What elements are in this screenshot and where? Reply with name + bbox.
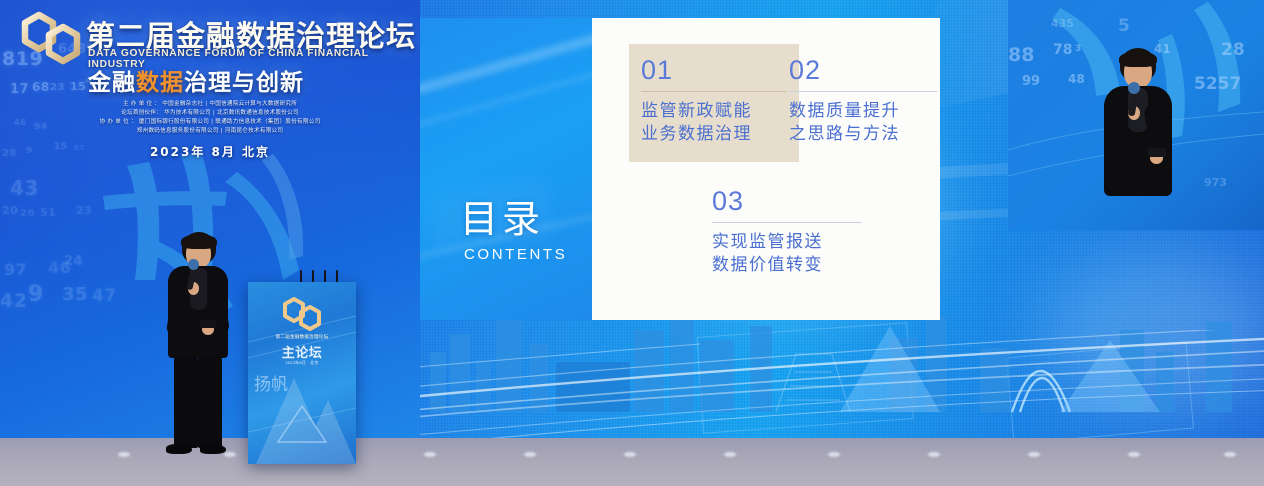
subtitle-part1: 金融 — [88, 70, 136, 96]
toc-line-1: 监管新政赋能 — [641, 100, 787, 123]
toc-item-02[interactable]: 02 数据质量提升 之思路与方法 — [789, 57, 937, 146]
bg-number: 97 — [4, 260, 27, 279]
feed-number: 88 — [1008, 44, 1034, 66]
floor-light — [1128, 452, 1140, 457]
floor-light — [1224, 452, 1236, 457]
floor-light — [928, 452, 940, 457]
toc-line-2: 之思路与方法 — [789, 123, 937, 146]
feed-number: 28 — [1221, 40, 1245, 60]
toc-number: 02 — [789, 57, 937, 84]
bg-number: 43 — [10, 176, 39, 200]
toc-number: 01 — [641, 57, 787, 84]
toc-item-03[interactable]: 03 实现监管报送 数据价值转变 — [712, 188, 862, 277]
feed-number: 5257 — [1194, 74, 1241, 94]
organizer-line: 主 办 单 位 ： 中国金融杂志社 | 中国信通院云计算与大数据研究所 — [0, 99, 420, 107]
toc-item-01[interactable]: 01 监管新政赋能 业务数据治理 — [629, 44, 799, 162]
slide-contents-panel: 目录 CONTENTS — [420, 18, 592, 320]
floor-light — [1028, 452, 1040, 457]
subtitle-highlight: 数据 — [136, 70, 184, 96]
toc-line-2: 业务数据治理 — [641, 123, 787, 146]
banner-subtitle: 金融数据治理与创新 — [88, 63, 304, 97]
podium-title-small: 第二届金融数据治理论坛 — [248, 334, 356, 340]
floor-light — [118, 452, 130, 457]
floor-light — [624, 452, 636, 457]
speaker-in-video-feed — [1092, 48, 1184, 230]
floor-light — [424, 452, 436, 457]
organizer-line: 论坛首创伙伴： 华为技术有限公司 | 北京数讯数通信息技术股份公司 — [0, 108, 420, 116]
toc-number: 03 — [712, 188, 862, 215]
event-banner: 第二届金融数据治理论坛 DATA GOVERNANCE FORUM OF CHI… — [0, 0, 420, 175]
right-led-screen: 88 78 3 435 5 41 28 99 48 5257 973 — [1008, 0, 1264, 230]
bg-number: 42 — [0, 290, 27, 312]
interlocking-hexagon-logo-icon — [20, 10, 82, 66]
slide-white-panel: 01 监管新政赋能 业务数据治理 02 数据质量提升 之思路与方法 03 实现监… — [592, 18, 940, 320]
subtitle-part2: 治理与创新 — [184, 70, 304, 96]
toc-divider — [712, 222, 862, 223]
bg-number: 9 — [28, 282, 44, 307]
event-datetime: 2023年 8月 北京 — [0, 143, 420, 160]
floor-light — [724, 452, 736, 457]
feed-number: 78 — [1053, 42, 1072, 58]
branded-podium: 第二届金融数据治理论坛 主论坛 2023年8月 · 北京 扬帆 — [248, 282, 356, 464]
toc-divider — [641, 91, 787, 92]
bg-number: 20 — [2, 204, 18, 217]
feed-number: 3 — [1075, 44, 1081, 54]
podium-subtitle: 2023年8月 · 北京 — [248, 360, 356, 366]
toc-divider — [789, 91, 937, 92]
toc-line-1: 数据质量提升 — [789, 100, 937, 123]
feed-number: 435 — [1051, 17, 1074, 30]
bg-number: 51 — [40, 206, 56, 219]
organizer-line: 郑州数码信息服务股份有限公司 | 河南昆仑技术有限公司 — [0, 126, 420, 134]
podium-title-big: 主论坛 — [248, 342, 356, 361]
bg-number: 26 — [20, 208, 35, 219]
contents-title-en: CONTENTS — [464, 246, 567, 263]
feed-number: 99 — [1022, 74, 1040, 89]
presenter-on-stage — [152, 232, 244, 464]
organizer-line: 协 办 单 位 ： 厦门国际银行股份有限公司 | 联通助力信息技术（集团）股份有… — [0, 117, 420, 125]
floor-light — [828, 452, 840, 457]
podium-calligraphy: 扬帆 — [254, 370, 288, 395]
contents-title-cn: 目录 — [460, 188, 544, 243]
podium-hexagon-logo-icon — [282, 296, 322, 332]
conference-stage-screenshot: 819 6437 17 68 23 15 4 46 94 28 9 15 87 … — [0, 0, 1264, 486]
toc-line-2: 数据价值转变 — [712, 254, 862, 277]
feed-number: 48 — [1068, 72, 1085, 86]
floor-light — [524, 452, 536, 457]
feed-number: 5 — [1118, 16, 1130, 36]
bg-number: 24 — [64, 254, 83, 269]
feed-number: 973 — [1204, 176, 1227, 189]
toc-line-1: 实现监管报送 — [712, 231, 862, 254]
